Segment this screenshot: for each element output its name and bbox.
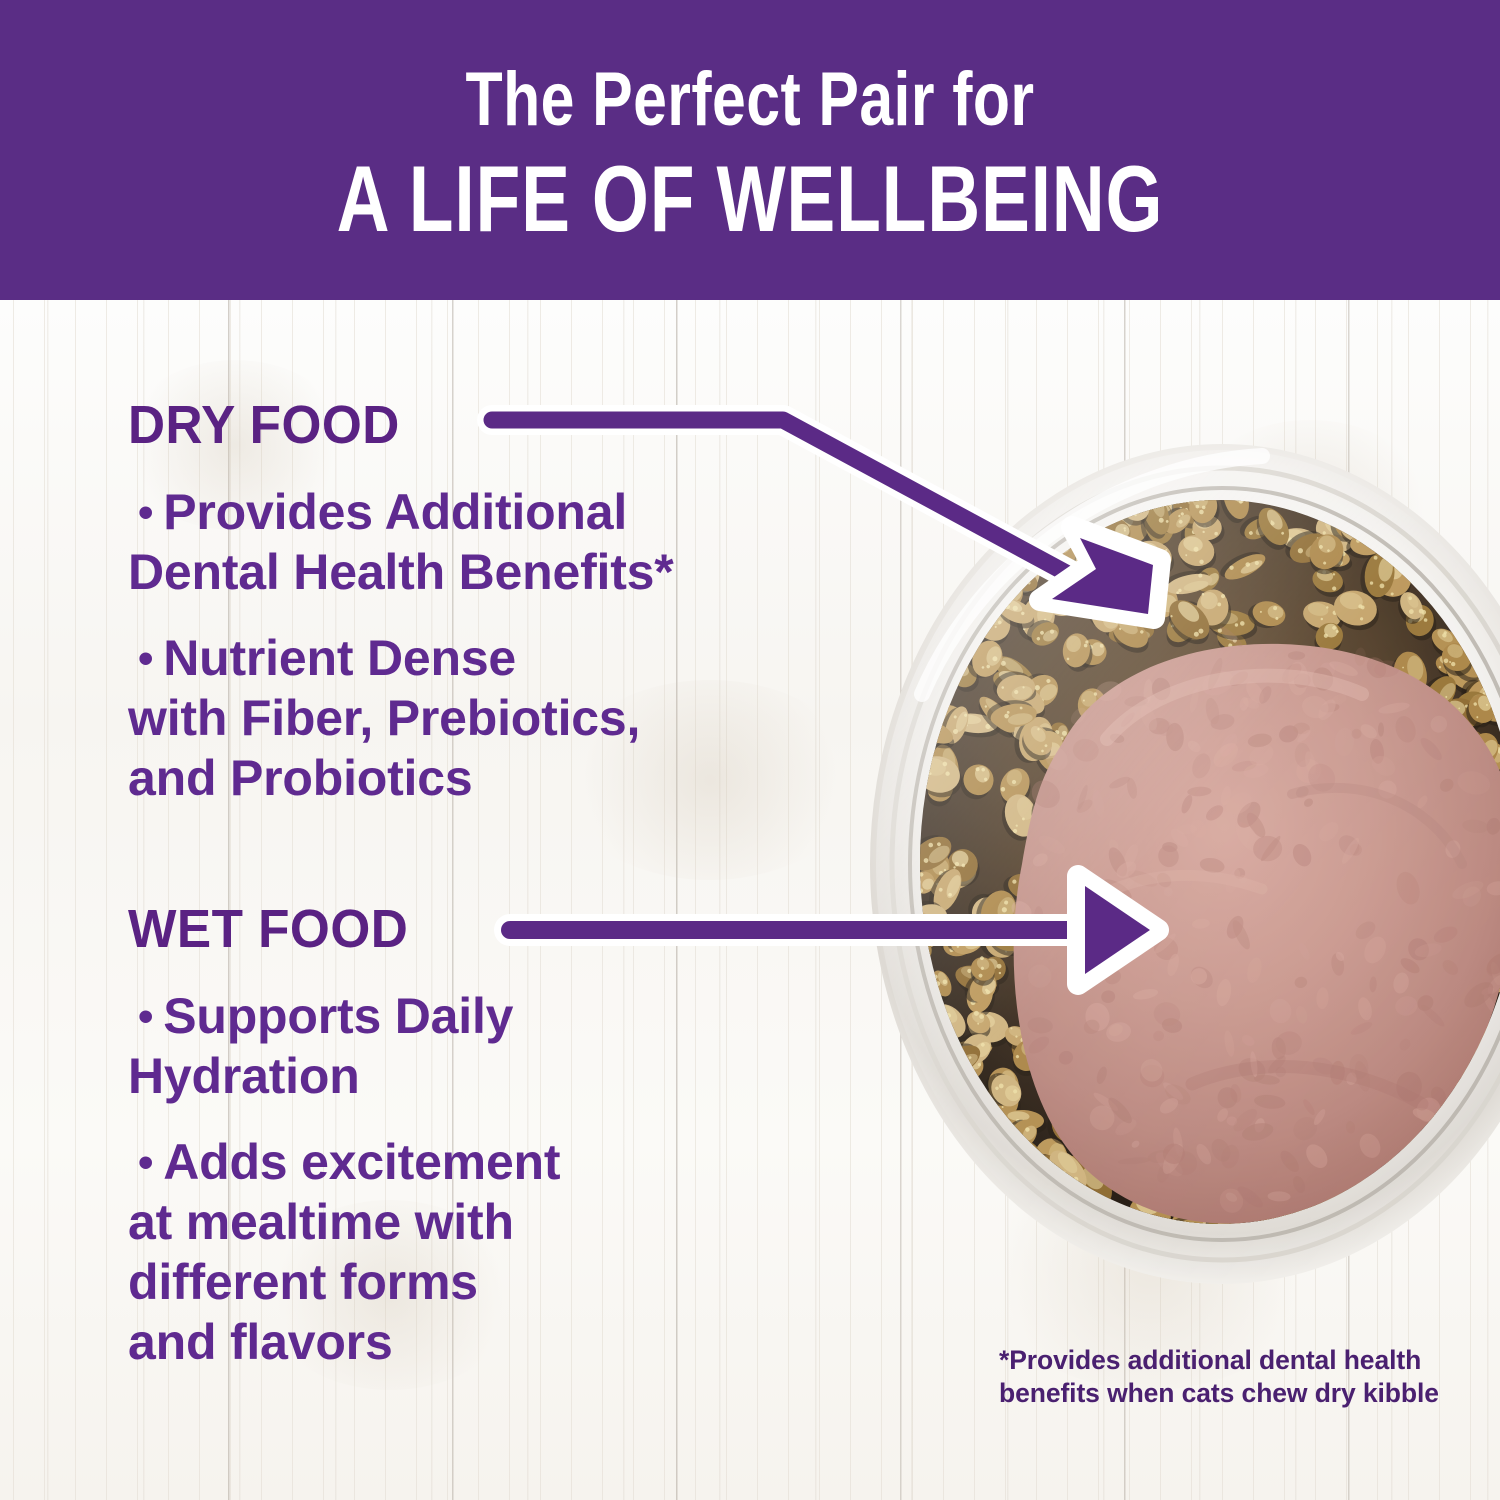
bullet-list-wet-food: •Supports Daily Hydration •Adds exciteme… [128,986,808,1372]
bullet-list-dry-food: •Provides Additional Dental Health Benef… [128,482,808,808]
list-item: •Nutrient Dense with Fiber, Prebiotics, … [128,628,808,808]
list-item: •Supports Daily Hydration [128,986,808,1106]
header-line-2: A LIFE OF WELLBEING [165,138,1335,246]
bullet-dot-icon: • [128,1138,163,1187]
bullet-dot-icon: • [128,634,163,683]
pet-food-bowl-photo [862,444,1500,1306]
list-item-text: Supports Daily Hydration [128,988,513,1104]
list-item: •Adds excitement at mealtime with differ… [128,1132,808,1372]
list-item-text: Adds excitement at mealtime with differe… [128,1134,560,1370]
section-heading-wet-food: WET FOOD [128,898,408,960]
list-item-text: Provides Additional Dental Health Benefi… [128,484,674,600]
section-heading-dry-food: DRY FOOD [128,394,400,456]
copy-column: DRY FOOD •Provides Additional Dental Hea… [0,300,850,1500]
list-item: •Provides Additional Dental Health Benef… [128,482,808,602]
header-band: The Perfect Pair for A LIFE OF WELLBEING [0,0,1500,300]
promo-graphic: The Perfect Pair for A LIFE OF WELLBEING [0,0,1500,1500]
footnote-text: *Provides additional dental health benef… [999,1344,1439,1411]
bullet-dot-icon: • [128,488,163,537]
bullet-dot-icon: • [128,992,163,1041]
header-line-1: The Perfect Pair for [150,0,1350,138]
bowl-illustration [862,444,1500,1306]
list-item-text: Nutrient Dense with Fiber, Prebiotics, a… [128,630,640,806]
